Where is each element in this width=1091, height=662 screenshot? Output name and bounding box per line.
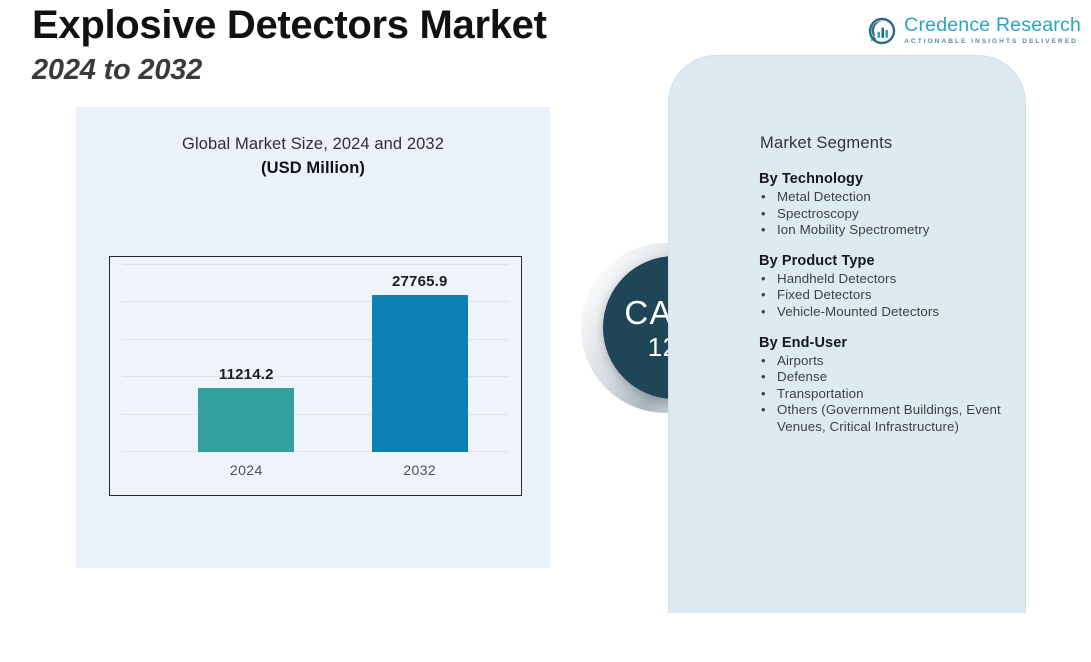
- segment-list: •Airports•Defense•Transportation•Others …: [757, 353, 1017, 436]
- segment-item-label: Others (Government Buildings, Event Venu…: [777, 402, 1001, 434]
- list-item: •Airports: [757, 353, 1017, 370]
- segments-body: By Technology•Metal Detection•Spectrosco…: [757, 171, 1017, 436]
- x-axis-tick-label: 2024: [230, 462, 263, 478]
- segment-item-label: Transportation: [777, 386, 864, 401]
- chart-bar-group: 11214.22024: [198, 366, 294, 452]
- segment-group: By Technology•Metal Detection•Spectrosco…: [757, 171, 1017, 239]
- bullet-icon: •: [761, 287, 766, 304]
- logo-tagline: Actionable Insights Delivered: [904, 39, 1081, 46]
- bullet-icon: •: [761, 353, 766, 370]
- chart-plot-area: 11214.2202427765.92032: [110, 257, 521, 495]
- bullet-icon: •: [761, 206, 766, 223]
- market-size-chart-panel: Global Market Size, 2024 and 2032 (USD M…: [76, 107, 550, 568]
- segment-group: By Product Type•Handheld Detectors•Fixed…: [757, 253, 1017, 321]
- bullet-icon: •: [761, 189, 766, 206]
- segment-group-title: By Technology: [759, 171, 1017, 187]
- chart-bar-group: 27765.92032: [372, 273, 468, 452]
- logo-wordmark: Credence Research: [904, 16, 1081, 36]
- bar-chart-circle-icon: [867, 16, 897, 46]
- segment-list: •Metal Detection•Spectroscopy•Ion Mobili…: [757, 189, 1017, 239]
- segment-group: By End-User•Airports•Defense•Transportat…: [757, 335, 1017, 436]
- chart-bar: [198, 388, 294, 452]
- list-item: •Handheld Detectors: [757, 271, 1017, 288]
- bullet-icon: •: [761, 369, 766, 386]
- segment-item-label: Handheld Detectors: [777, 271, 896, 286]
- page-title: Explosive Detectors Market: [32, 2, 652, 48]
- chart-bar: [372, 295, 468, 452]
- chart-subtitle: (USD Million): [76, 159, 550, 178]
- list-item: •Vehicle-Mounted Detectors: [757, 304, 1017, 321]
- logo-text-wrap: Credence Research Actionable Insights De…: [904, 16, 1081, 45]
- list-item: •Transportation: [757, 386, 1017, 403]
- list-item: •Metal Detection: [757, 189, 1017, 206]
- page-subtitle: 2024 to 2032: [32, 52, 652, 88]
- bar-value-label: 11214.2: [219, 366, 274, 383]
- chart-plot-frame: 11214.2202427765.92032: [109, 256, 522, 496]
- segment-item-label: Fixed Detectors: [777, 287, 872, 302]
- segment-group-title: By End-User: [759, 335, 1017, 351]
- segment-group-title: By Product Type: [759, 253, 1017, 269]
- header-title-block: Explosive Detectors Market 2024 to 2032: [32, 2, 652, 88]
- segment-item-label: Metal Detection: [777, 189, 871, 204]
- bullet-icon: •: [761, 402, 766, 419]
- market-segments-panel: Market Segments By Technology•Metal Dete…: [668, 55, 1026, 613]
- segment-item-label: Defense: [777, 369, 827, 384]
- list-item: •Defense: [757, 369, 1017, 386]
- segment-item-label: Vehicle-Mounted Detectors: [777, 304, 939, 319]
- bullet-icon: •: [761, 304, 766, 321]
- bullet-icon: •: [761, 386, 766, 403]
- list-item: •Fixed Detectors: [757, 287, 1017, 304]
- bullet-icon: •: [761, 222, 766, 239]
- segments-heading: Market Segments: [760, 134, 892, 153]
- list-item: •Others (Government Buildings, Event Ven…: [757, 402, 1017, 435]
- segment-item-label: Spectroscopy: [777, 206, 859, 221]
- segment-item-label: Airports: [777, 353, 824, 368]
- x-axis-tick-label: 2032: [403, 462, 436, 478]
- brand-logo: Credence Research Actionable Insights De…: [867, 16, 1081, 46]
- list-item: •Spectroscopy: [757, 206, 1017, 223]
- chart-title: Global Market Size, 2024 and 2032: [76, 135, 550, 154]
- bar-value-label: 27765.9: [392, 273, 448, 290]
- segment-item-label: Ion Mobility Spectrometry: [777, 222, 930, 237]
- list-item: •Ion Mobility Spectrometry: [757, 222, 1017, 239]
- bullet-icon: •: [761, 271, 766, 288]
- segment-list: •Handheld Detectors•Fixed Detectors•Vehi…: [757, 271, 1017, 321]
